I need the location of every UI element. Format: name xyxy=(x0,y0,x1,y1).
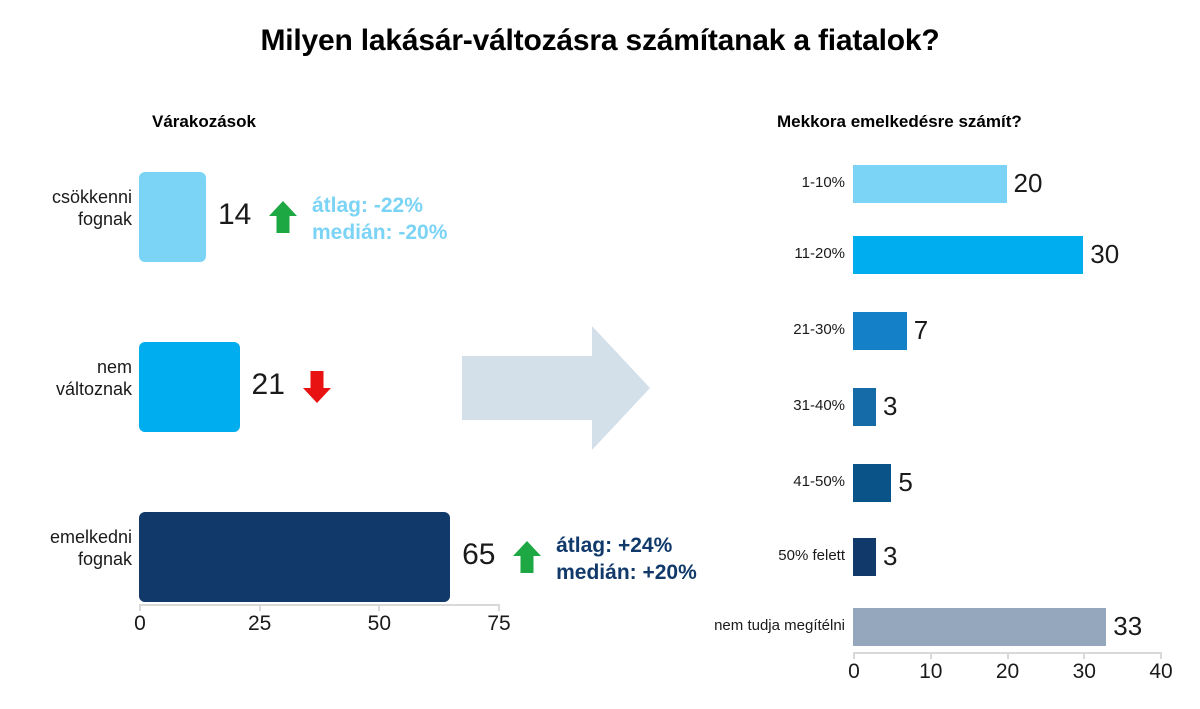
right-axis-tick-label: 30 xyxy=(1073,660,1096,684)
right-bar-value: 33 xyxy=(1113,611,1142,642)
right-axis-tick xyxy=(1160,652,1162,659)
right-axis-tick xyxy=(1083,652,1085,659)
right-axis-tick-label: 20 xyxy=(996,660,1019,684)
right-axis-tick-label: 40 xyxy=(1149,660,1172,684)
right-bar-label: 11-20% xyxy=(625,245,845,262)
right-axis-tick xyxy=(1007,652,1009,659)
right-panel-header: Mekkora emelkedésre számít? xyxy=(777,112,1022,132)
right-bar-label: 1-10% xyxy=(625,174,845,191)
right-bar-label: nem tudja megítélni xyxy=(625,617,845,634)
right-bar[interactable] xyxy=(853,165,1007,203)
right-axis-tick-label: 0 xyxy=(848,660,860,684)
right-bar-label: 31-40% xyxy=(625,397,845,414)
right-bar-value: 7 xyxy=(914,315,928,346)
right-axis-tick xyxy=(853,652,855,659)
right-bar-label: 41-50% xyxy=(625,473,845,490)
right-chart-panel: Mekkora emelkedésre számít? 1-10% 20 11-… xyxy=(0,0,1200,709)
right-bar-label: 21-30% xyxy=(625,321,845,338)
right-bar[interactable] xyxy=(853,608,1106,646)
right-bar-value: 3 xyxy=(883,391,897,422)
right-bar-value: 20 xyxy=(1014,168,1043,199)
right-bar-label: 50% felett xyxy=(625,547,845,564)
right-axis-tick-label: 10 xyxy=(919,660,942,684)
right-bar[interactable] xyxy=(853,388,876,426)
right-bar[interactable] xyxy=(853,464,891,502)
right-bar[interactable] xyxy=(853,236,1083,274)
right-bar[interactable] xyxy=(853,312,907,350)
right-bar-value: 30 xyxy=(1090,239,1119,270)
right-bar-value: 5 xyxy=(898,467,912,498)
right-bar-value: 3 xyxy=(883,541,897,572)
right-axis-tick xyxy=(930,652,932,659)
right-bar[interactable] xyxy=(853,538,876,576)
